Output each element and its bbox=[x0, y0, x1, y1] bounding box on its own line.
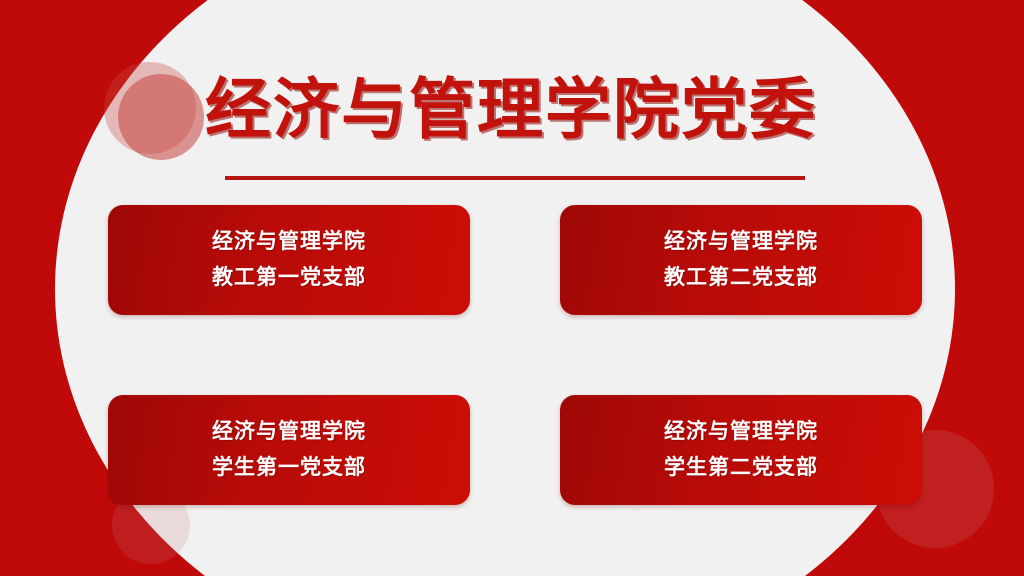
title-underline-rule bbox=[225, 176, 805, 180]
branch-card-faculty-1[interactable]: 经济与管理学院 教工第一党支部 bbox=[108, 205, 470, 315]
branch-card-line-1: 经济与管理学院 bbox=[664, 414, 818, 450]
branch-card-line-1: 经济与管理学院 bbox=[212, 414, 366, 450]
branch-card-line-2: 教工第一党支部 bbox=[212, 260, 366, 296]
branch-card-line-2: 学生第二党支部 bbox=[664, 450, 818, 486]
branch-card-student-2[interactable]: 经济与管理学院 学生第二党支部 bbox=[560, 395, 922, 505]
branch-card-student-1[interactable]: 经济与管理学院 学生第一党支部 bbox=[108, 395, 470, 505]
page-title: 经济与管理学院党委 bbox=[205, 72, 905, 146]
branch-card-line-1: 经济与管理学院 bbox=[664, 224, 818, 260]
branch-card-line-2: 学生第一党支部 bbox=[212, 450, 366, 486]
title-block: 经济与管理学院党委 bbox=[205, 72, 905, 146]
slide-canvas: 经济与管理学院党委 经济与管理学院 教工第一党支部 经济与管理学院 教工第二党支… bbox=[0, 0, 1024, 576]
branch-card-line-2: 教工第二党支部 bbox=[664, 260, 818, 296]
branch-card-faculty-2[interactable]: 经济与管理学院 教工第二党支部 bbox=[560, 205, 922, 315]
branch-card-line-1: 经济与管理学院 bbox=[212, 224, 366, 260]
